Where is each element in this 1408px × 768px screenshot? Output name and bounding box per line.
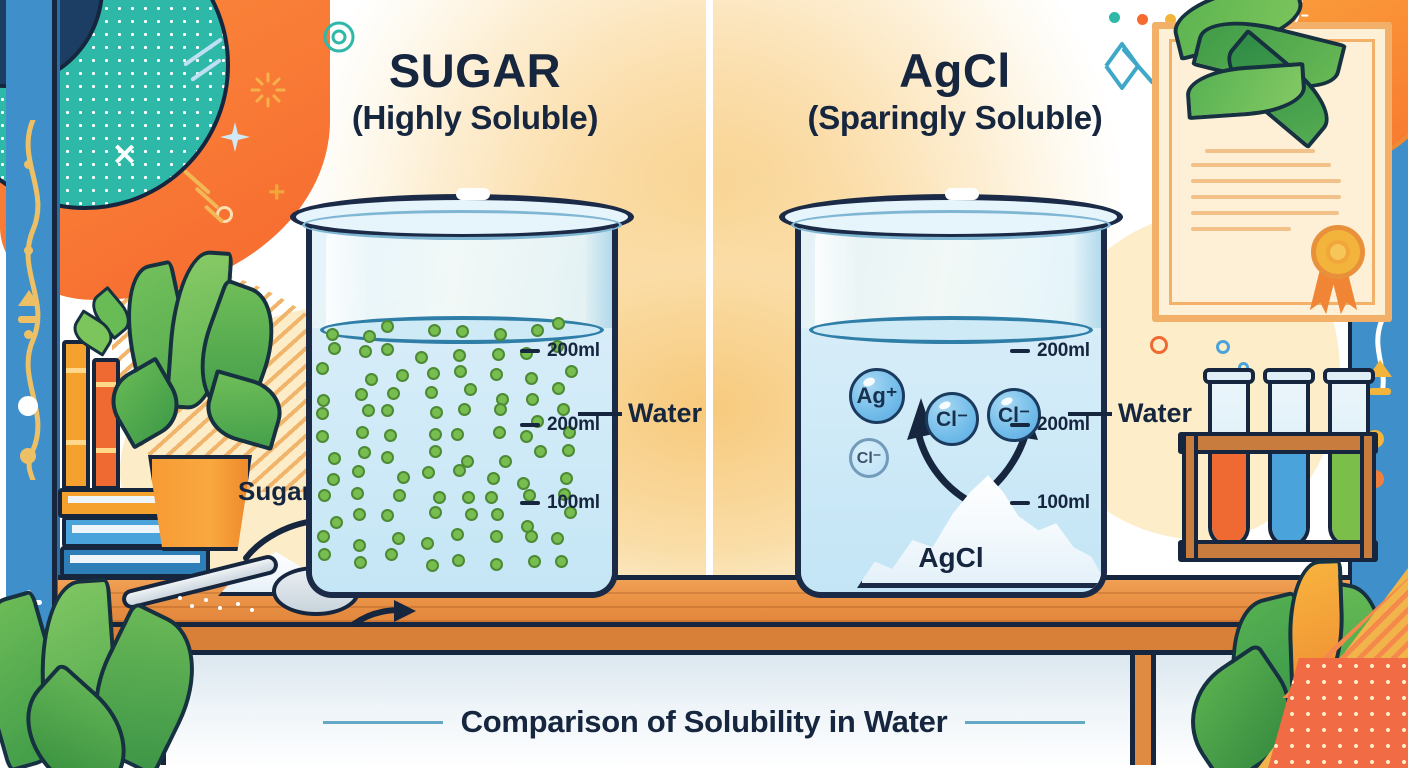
sugar-particle bbox=[384, 429, 397, 442]
panel-title-agcl: AgCl (Sparingly Soluble) bbox=[750, 46, 1160, 137]
beaker-agcl[interactable]: Ag⁺ Cl⁻ Cl⁻ Cl⁻ AgCl bbox=[795, 188, 1107, 600]
sugar-particle bbox=[531, 324, 544, 337]
sugar-particle bbox=[493, 426, 506, 439]
sugar-particle bbox=[316, 362, 329, 375]
caption-rule-right bbox=[965, 721, 1085, 724]
sugar-particle bbox=[485, 491, 498, 504]
sugar-particle bbox=[358, 446, 371, 459]
rack-leg bbox=[1182, 432, 1198, 562]
sugar-particle bbox=[318, 489, 331, 502]
caption-band: Comparison of Solubility in Water bbox=[0, 690, 1408, 768]
tick-agcl-0: 200ml bbox=[1010, 340, 1090, 362]
ion-cl-minus-1: Cl⁻ bbox=[925, 392, 979, 446]
sugar-particle bbox=[352, 465, 365, 478]
sugar-particle bbox=[363, 330, 376, 343]
sugar-particle bbox=[355, 388, 368, 401]
sugar-particle bbox=[381, 320, 394, 333]
sugar-particle bbox=[487, 472, 500, 485]
sugar-into-beaker-arrow-icon bbox=[352, 600, 422, 636]
sugar-particle bbox=[525, 372, 538, 385]
subtitle-sugar: (Highly Soluble) bbox=[270, 99, 680, 137]
sugar-particle bbox=[425, 386, 438, 399]
caption-text: Comparison of Solubility in Water bbox=[461, 704, 948, 740]
sugar-particle bbox=[525, 530, 538, 543]
sugar-particle bbox=[317, 394, 330, 407]
sugar-particle bbox=[397, 471, 410, 484]
caption-rule-left bbox=[323, 721, 443, 724]
beaker-rim-highlight bbox=[456, 188, 490, 200]
sugar-particle bbox=[494, 403, 507, 416]
rack-top-bar bbox=[1178, 432, 1378, 454]
sugar-particle bbox=[453, 349, 466, 362]
sugar-particle bbox=[464, 383, 477, 396]
beaker-glass bbox=[306, 216, 618, 598]
sugar-particle bbox=[429, 428, 442, 441]
test-tube-cap bbox=[1323, 368, 1375, 384]
test-tube-cap bbox=[1263, 368, 1315, 384]
sugar-particle bbox=[490, 530, 503, 543]
plant-pot bbox=[148, 455, 252, 551]
sugar-particle bbox=[560, 472, 573, 485]
beaker-glass: Ag⁺ Cl⁻ Cl⁻ Cl⁻ AgCl bbox=[795, 216, 1107, 598]
beaker-sugar[interactable] bbox=[306, 188, 618, 600]
decor-bar-right bbox=[1369, 388, 1391, 395]
panel-divider bbox=[706, 0, 713, 640]
decor-plus-icon: + bbox=[268, 176, 286, 210]
test-tube-1 bbox=[1208, 376, 1250, 548]
sugar-particle bbox=[316, 407, 329, 420]
sugar-particle bbox=[359, 345, 372, 358]
sugar-particle bbox=[551, 532, 564, 545]
book-spine bbox=[62, 340, 90, 490]
sugar-particle bbox=[387, 387, 400, 400]
sugar-particle bbox=[555, 555, 568, 568]
tick-sugar-0: 200ml bbox=[520, 340, 600, 362]
beaker-rim-highlight bbox=[945, 188, 979, 200]
sugar-particle bbox=[451, 528, 464, 541]
sugar-particle bbox=[499, 455, 512, 468]
water-label-sugar: Water bbox=[578, 398, 702, 429]
sugar-particle bbox=[392, 532, 405, 545]
sugar-particle bbox=[534, 445, 547, 458]
tick-agcl-2: 100ml bbox=[1010, 492, 1090, 514]
agcl-precipitate-label: AgCl bbox=[801, 542, 1101, 574]
title-agcl: AgCl bbox=[750, 46, 1160, 95]
sugar-particle bbox=[362, 404, 375, 417]
sugar-particle bbox=[452, 554, 465, 567]
sugar-particle bbox=[353, 508, 366, 521]
water-label-agcl: Water bbox=[1068, 398, 1192, 429]
decor-sparkle-icon bbox=[218, 120, 252, 154]
sugar-particle bbox=[451, 428, 464, 441]
ion-cl-minus-faint: Cl⁻ bbox=[849, 438, 889, 478]
book-spine bbox=[92, 358, 120, 490]
sugar-particle bbox=[385, 548, 398, 561]
rack-leg bbox=[1360, 432, 1376, 562]
sugar-particle bbox=[433, 491, 446, 504]
tick-sugar-2: 100ml bbox=[520, 492, 600, 514]
sugar-particle bbox=[526, 393, 539, 406]
sugar-particle bbox=[517, 477, 530, 490]
sugar-particle bbox=[552, 382, 565, 395]
decor-bar-left bbox=[18, 316, 40, 323]
test-tube-cap bbox=[1203, 368, 1255, 384]
sugar-particle bbox=[422, 466, 435, 479]
sugar-particle bbox=[330, 516, 343, 529]
sugar-particle bbox=[491, 508, 504, 521]
beaker-rim bbox=[290, 194, 634, 240]
sugar-particle bbox=[552, 317, 565, 330]
table-apron bbox=[58, 627, 1350, 655]
ion-ag-plus: Ag⁺ bbox=[849, 368, 905, 424]
poster-canvas: ✕ + bbox=[0, 0, 1408, 768]
sugar-particle bbox=[396, 369, 409, 382]
decor-bubble-1 bbox=[1216, 340, 1230, 354]
sugar-particle bbox=[421, 537, 434, 550]
sugar-particle bbox=[381, 343, 394, 356]
award-rosette-icon bbox=[1311, 225, 1365, 279]
decor-dot-orange bbox=[1137, 14, 1148, 25]
sugar-particle bbox=[381, 451, 394, 464]
sugar-particle bbox=[494, 328, 507, 341]
subtitle-agcl: (Sparingly Soluble) bbox=[750, 99, 1160, 137]
sugar-particle bbox=[428, 324, 441, 337]
sugar-particle bbox=[365, 373, 378, 386]
beaker-rim bbox=[779, 194, 1123, 240]
title-sugar: SUGAR bbox=[270, 46, 680, 95]
decor-triangle-left bbox=[18, 290, 40, 306]
decor-dot-teal bbox=[1109, 12, 1120, 23]
sugar-particle bbox=[458, 403, 471, 416]
sugar-particle bbox=[381, 404, 394, 417]
sugar-particle bbox=[429, 445, 442, 458]
sugar-particle bbox=[490, 558, 503, 571]
panel-title-sugar: SUGAR (Highly Soluble) bbox=[270, 46, 680, 137]
test-tube-2 bbox=[1268, 376, 1310, 548]
rack-bottom-bar bbox=[1178, 540, 1378, 562]
sugar-particle bbox=[456, 325, 469, 338]
decor-x-icon: ✕ bbox=[112, 138, 137, 173]
sugar-particle bbox=[426, 559, 439, 572]
decor-ring-orange bbox=[1150, 336, 1168, 354]
sugar-particle bbox=[465, 508, 478, 521]
